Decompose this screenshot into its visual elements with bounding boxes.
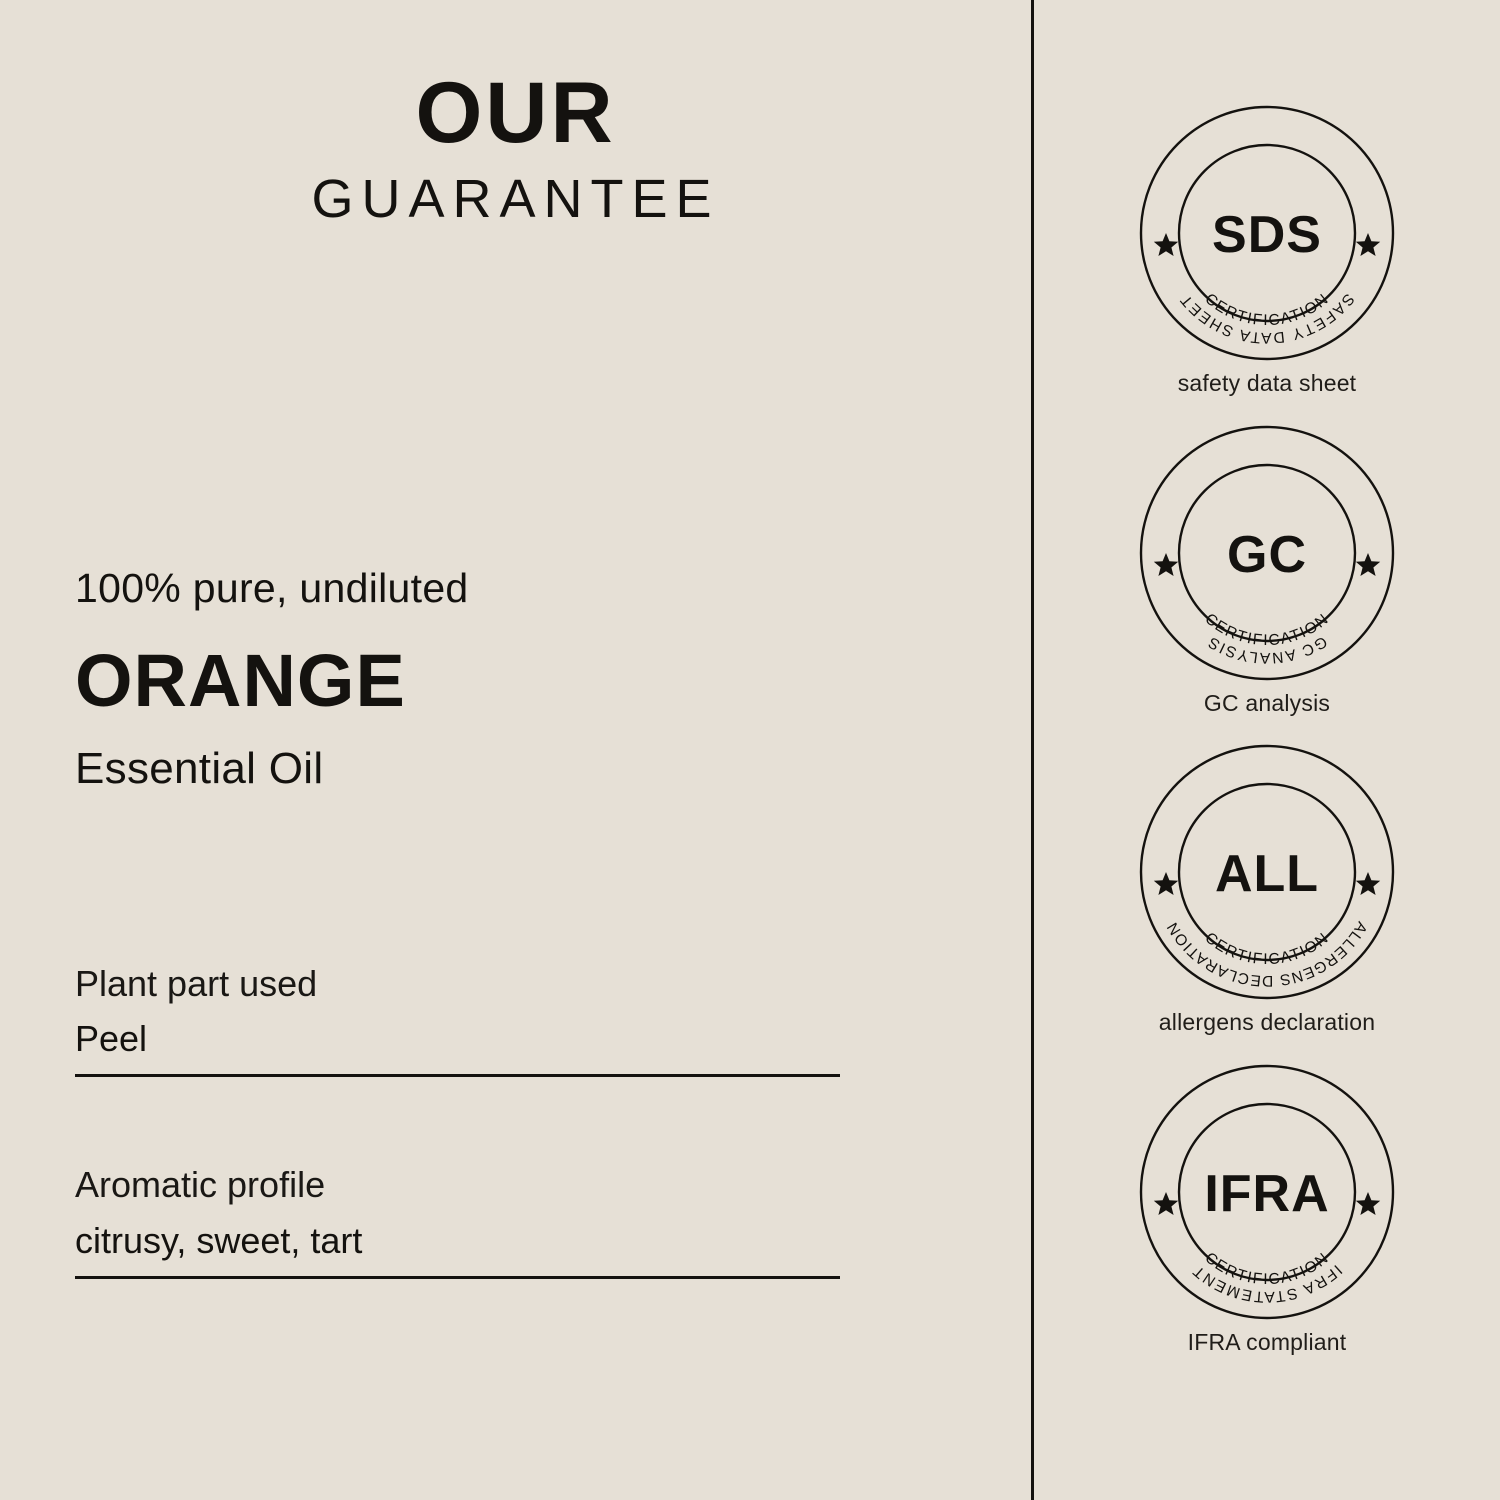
seal-abbreviation: IFRA <box>1204 1165 1329 1223</box>
guarantee-page: OUR GUARANTEE 100% pure, undiluted ORANG… <box>0 0 1500 1500</box>
star-icon <box>1356 553 1380 576</box>
spec-value: Peel <box>75 1017 840 1060</box>
seal-caption: IFRA compliant <box>1034 1329 1500 1357</box>
left-content-column: OUR GUARANTEE 100% pure, undiluted ORANG… <box>0 0 1031 1500</box>
star-icon <box>1154 553 1178 576</box>
page-title: OUR GUARANTEE <box>0 70 1031 229</box>
product-name: ORANGE <box>75 640 875 721</box>
spec-label: Aromatic profile <box>75 1163 840 1206</box>
certification-seal-list: SAFETY DATA SHEET CERTIFICATION SDS safe… <box>1034 104 1500 1382</box>
certification-seal-sds: SAFETY DATA SHEET CERTIFICATION SDS safe… <box>1034 104 1500 398</box>
star-icon <box>1356 872 1380 895</box>
seal-abbreviation: SDS <box>1212 206 1322 264</box>
seal-badge-icon: SAFETY DATA SHEET CERTIFICATION SDS <box>1138 104 1396 362</box>
star-icon <box>1356 233 1380 256</box>
product-identity: 100% pure, undiluted ORANGE Essential Oi… <box>75 565 875 794</box>
seal-caption: GC analysis <box>1034 690 1500 718</box>
certification-seal-allergens: ALLERGENS DECLARATION CERTIFICATION ALL … <box>1034 743 1500 1037</box>
product-purity-text: 100% pure, undiluted <box>75 565 875 612</box>
star-icon <box>1356 1192 1380 1215</box>
seal-caption: allergens declaration <box>1034 1009 1500 1037</box>
seal-badge-icon: IFRA STATEMENT CERTIFICATION IFRA <box>1138 1063 1396 1321</box>
page-title-line-1: OUR <box>0 70 1031 156</box>
spec-row-plant-part: Plant part used Peel <box>75 962 840 1077</box>
certification-seal-gc: GC ANALYSIS CERTIFICATION GC GC analysis <box>1034 424 1500 718</box>
certification-column: SAFETY DATA SHEET CERTIFICATION SDS safe… <box>1034 0 1500 1500</box>
star-icon <box>1154 233 1178 256</box>
spec-value: citrusy, sweet, tart <box>75 1219 840 1262</box>
spec-divider <box>75 1074 840 1077</box>
seal-badge-icon: GC ANALYSIS CERTIFICATION GC <box>1138 424 1396 682</box>
seal-badge-icon: ALLERGENS DECLARATION CERTIFICATION ALL <box>1138 743 1396 1001</box>
product-type: Essential Oil <box>75 744 875 795</box>
star-icon <box>1154 1192 1178 1215</box>
seal-abbreviation: ALL <box>1215 845 1319 903</box>
seal-abbreviation: GC <box>1227 526 1307 584</box>
star-icon <box>1154 872 1178 895</box>
seal-caption: safety data sheet <box>1034 370 1500 398</box>
spec-divider <box>75 1276 840 1279</box>
product-specs-list: Plant part used Peel Aromatic profile ci… <box>75 962 840 1279</box>
page-title-line-2: GUARANTEE <box>0 170 1031 229</box>
certification-seal-ifra: IFRA STATEMENT CERTIFICATION IFRA IFRA c… <box>1034 1063 1500 1357</box>
spec-row-aromatic-profile: Aromatic profile citrusy, sweet, tart <box>75 1163 840 1278</box>
spec-label: Plant part used <box>75 962 840 1005</box>
